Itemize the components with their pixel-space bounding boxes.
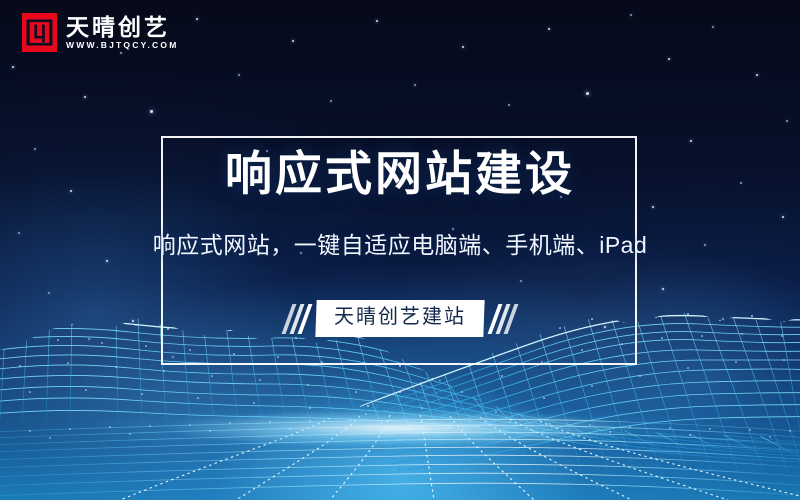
star-icon [756, 74, 758, 76]
star-icon [662, 288, 664, 290]
star-icon [238, 74, 240, 76]
cta-button-label: 天晴创艺建站 [334, 305, 466, 330]
logo-url: WWW.BJTQCY.COM [66, 41, 179, 50]
star-icon [548, 28, 550, 30]
hero-text-block: 响应式网站建设 响应式网站，一键自适应电脑端、手机端、iPad [0, 150, 800, 257]
star-icon [786, 120, 788, 122]
star-icon [630, 14, 632, 16]
star-icon [690, 140, 692, 142]
star-icon [48, 292, 50, 294]
promo-banner: 天晴创艺 WWW.BJTQCY.COM 响应式网站建设 响应式网站，一键自适应电… [0, 0, 800, 500]
star-icon [12, 66, 14, 68]
star-icon [462, 46, 464, 48]
star-icon [196, 18, 198, 20]
logo-wordmark: 天晴创艺 WWW.BJTQCY.COM [66, 15, 179, 50]
cta-button[interactable]: 天晴创艺建站 [315, 300, 484, 337]
cta-row: 天晴创艺建站 [0, 300, 800, 337]
star-icon [120, 52, 122, 54]
triple-slash-left-decor [287, 304, 307, 334]
star-icon [668, 58, 670, 60]
star-icon [150, 110, 153, 113]
page-title: 响应式网站建设 [0, 150, 800, 197]
star-icon [292, 40, 294, 42]
star-icon [106, 260, 108, 262]
star-icon [330, 100, 332, 102]
star-icon [586, 92, 589, 95]
star-icon [712, 26, 714, 28]
star-icon [376, 20, 378, 22]
star-icon [508, 104, 510, 106]
tqcy-monogram-icon [22, 13, 57, 52]
brand-logo[interactable]: 天晴创艺 WWW.BJTQCY.COM [22, 13, 179, 52]
triple-slash-right-decor [493, 304, 513, 334]
horizon-glow [0, 404, 800, 446]
hero-subtitle: 响应式网站，一键自适应电脑端、手机端、iPad [0, 234, 800, 257]
logo-name-cn: 天晴创艺 [66, 15, 179, 39]
star-icon [414, 84, 416, 86]
star-icon [84, 96, 86, 98]
